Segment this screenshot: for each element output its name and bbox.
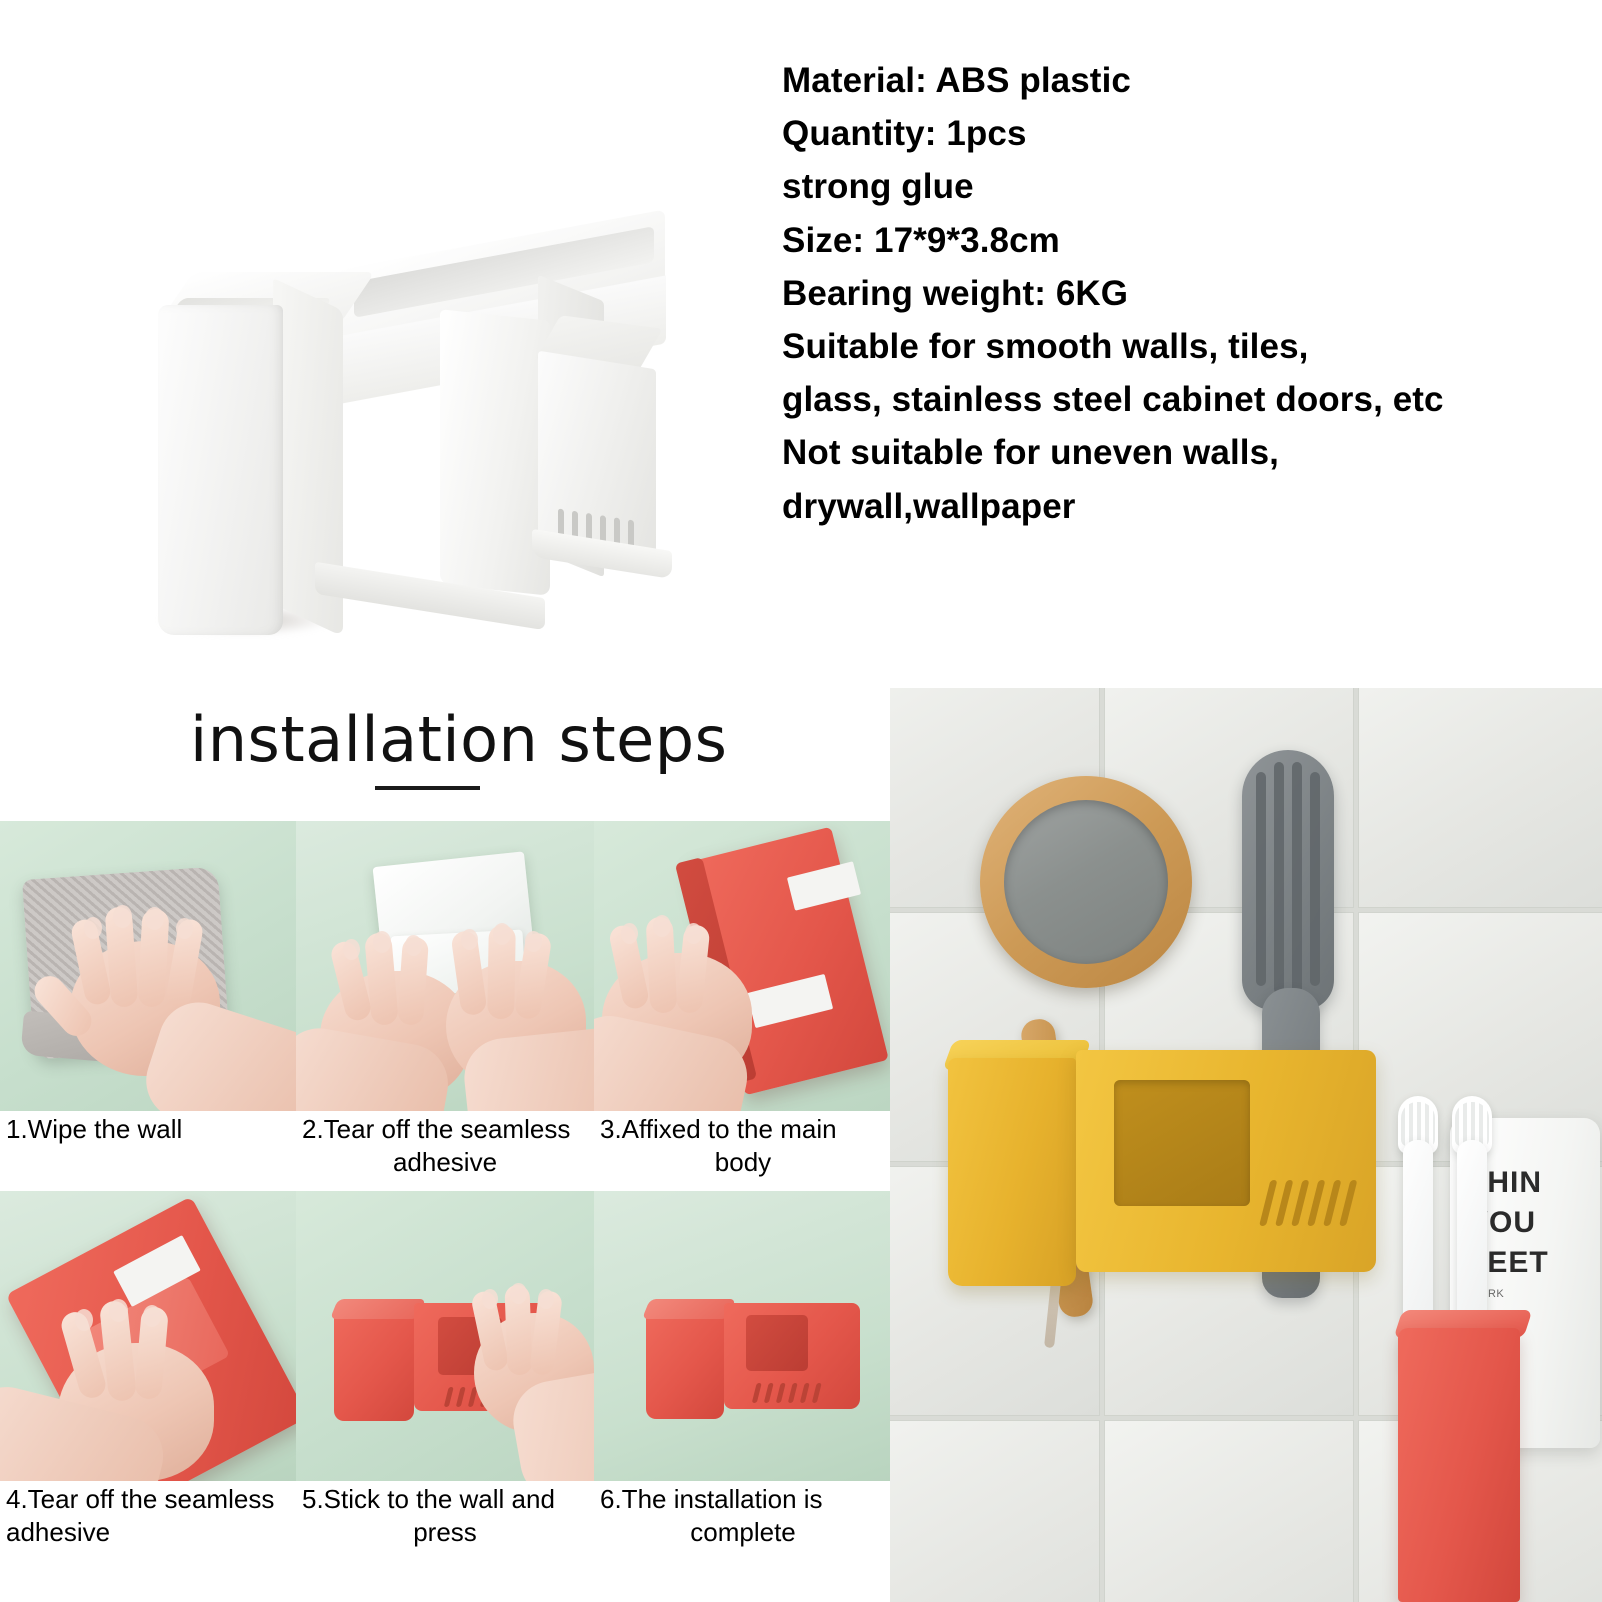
fingernail (525, 931, 542, 952)
spec-quantity: Quantity: 1pcs (782, 107, 1582, 160)
install-step-4: 4.Tear off the seamless adhesive (0, 1191, 296, 1561)
fingernail (510, 1283, 527, 1304)
product-left-pocket-front (158, 305, 283, 635)
install-step-5: 5.Stick to the wall and press (296, 1191, 594, 1561)
fingernail (145, 907, 164, 930)
spec-glue: strong glue (782, 160, 1582, 213)
step-4-photo (0, 1191, 296, 1481)
fingernail (176, 918, 193, 939)
fingernail (685, 923, 702, 944)
step-3-caption-line-2: body (600, 1146, 886, 1179)
step-2-photo (296, 821, 594, 1111)
install-step-6: 6.The installation is complete (594, 1191, 890, 1561)
wooden-hand-mirror (980, 776, 1192, 988)
drain-slot (1275, 1180, 1293, 1226)
fingernail (373, 931, 391, 953)
fingernail (343, 939, 360, 960)
fingernail (653, 915, 671, 937)
install-step-3: 3.Affixed to the main body (594, 821, 890, 1191)
organizer-drain-slots (751, 1383, 840, 1405)
step-1-photo (0, 821, 296, 1111)
brush-bristles (1274, 762, 1284, 994)
hair-brush-head (1242, 750, 1334, 1010)
spec-bearing-weight: Bearing weight: 6KG (782, 267, 1582, 320)
organizer-drain-slots (1258, 1180, 1377, 1232)
fingernail (143, 1305, 161, 1327)
step-3-caption-line-1: 3.Affixed to the main (600, 1113, 886, 1146)
organizer-window (746, 1315, 808, 1371)
drain-slot (800, 1383, 810, 1403)
hero-product-image (140, 210, 720, 670)
drain-slot (812, 1383, 822, 1403)
drain-slot (1291, 1180, 1309, 1226)
wall-tile (1358, 688, 1602, 908)
step-3-photo (594, 821, 890, 1111)
drain-slot (1323, 1180, 1341, 1226)
installation-title: installation steps (190, 703, 727, 776)
drain-slot (764, 1383, 774, 1403)
fingernail (493, 923, 511, 945)
drain-slot (776, 1383, 786, 1403)
step-6-caption-line-2: complete (600, 1516, 886, 1549)
step-1-caption: 1.Wipe the wall (6, 1113, 292, 1146)
step-1-caption-line-1: 1.Wipe the wall (6, 1113, 292, 1146)
lifestyle-scene-photo: THIN YOU TEET WORK (890, 688, 1602, 1602)
installation-steps-panel: installation steps 1.Wipe the wall (0, 688, 890, 1602)
organizer-left-pocket (646, 1309, 724, 1419)
step-5-caption-line-1: 5.Stick to the wall and (302, 1483, 588, 1516)
step-6-photo (594, 1191, 890, 1481)
step-2-caption-line-1: 2.Tear off the seamless (302, 1113, 588, 1146)
install-step-2: 2.Tear off the seamless adhesive (296, 821, 594, 1191)
step-4-caption-line-1: 4.Tear off the seamless (6, 1483, 292, 1516)
organizer-window (1114, 1080, 1250, 1206)
step-5-caption-line-2: press (302, 1516, 588, 1549)
step-5-caption: 5.Stick to the wall and press (302, 1483, 588, 1550)
step-5-photo (296, 1191, 594, 1481)
fingernail (109, 1299, 128, 1322)
step-4-caption-line-2: adhesive (6, 1516, 292, 1549)
wall-tile (1104, 1420, 1354, 1602)
spec-not-suitable-2: drywall,wallpaper (782, 480, 1582, 533)
fingernail (84, 917, 102, 939)
product-middle-divider-front (440, 309, 550, 596)
mirror-glass (1004, 800, 1168, 964)
step-2-caption: 2.Tear off the seamless adhesive (302, 1113, 588, 1180)
organizer-left-pocket (334, 1309, 414, 1421)
brush-bristles (1256, 772, 1266, 986)
step-6-caption-line-1: 6.The installation is (600, 1483, 886, 1516)
fingernail (538, 1289, 554, 1309)
drain-slot (788, 1383, 798, 1403)
step-3-caption: 3.Affixed to the main body (600, 1113, 886, 1180)
organizer-left-pocket-top (330, 1299, 426, 1319)
fingernail (113, 905, 132, 928)
organizer-left-pocket (948, 1058, 1076, 1286)
wall-tile (890, 1420, 1100, 1602)
specification-list: Material: ABS plastic Quantity: 1pcs str… (782, 54, 1582, 533)
drain-slot (1307, 1180, 1325, 1226)
brush-bristles (1310, 772, 1320, 986)
spec-material: Material: ABS plastic (782, 54, 1582, 107)
step-4-caption: 4.Tear off the seamless adhesive (6, 1483, 292, 1550)
step-2-caption-line-2: adhesive (302, 1146, 588, 1179)
drain-slot (1339, 1180, 1357, 1226)
fingernail (621, 923, 638, 944)
organizer-left-pocket-top (642, 1299, 736, 1319)
title-underline (375, 786, 480, 790)
spec-size: Size: 17*9*3.8cm (782, 214, 1582, 267)
brush-bristles (1292, 762, 1302, 994)
fingernail (75, 1309, 93, 1331)
drain-slot (456, 1387, 466, 1407)
steps-grid: 1.Wipe the wall (0, 821, 890, 1561)
fingernail (405, 935, 422, 956)
step-6-caption: 6.The installation is complete (600, 1483, 886, 1550)
spec-suitable-1: Suitable for smooth walls, tiles, (782, 320, 1582, 373)
coral-toothbrush-holder (1398, 1328, 1520, 1602)
spec-suitable-2: glass, stainless steel cabinet doors, et… (782, 373, 1582, 426)
fingernail (461, 929, 478, 950)
fingernail (482, 1289, 498, 1309)
install-step-1: 1.Wipe the wall (0, 821, 296, 1191)
spec-not-suitable-1: Not suitable for uneven walls, (782, 426, 1582, 479)
product-spec-section: Material: ABS plastic Quantity: 1pcs str… (0, 0, 1602, 688)
